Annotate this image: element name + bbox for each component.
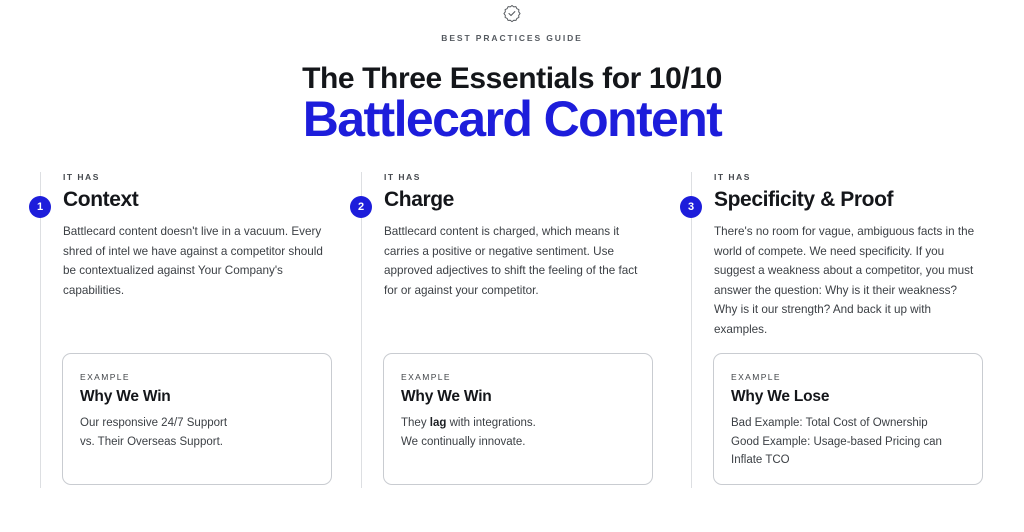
- example-card-label: EXAMPLE: [731, 372, 965, 382]
- column-description: Battlecard content doesn't live in a vac…: [63, 222, 325, 300]
- step-number-badge: 2: [350, 196, 372, 218]
- example-card: EXAMPLE Why We Win Our responsive 24/7 S…: [62, 353, 332, 485]
- essential-column-context: 1 IT HAS Context Battlecard content does…: [40, 172, 370, 492]
- example-line-1-post: with integrations.: [446, 417, 536, 429]
- example-card-heading: Why We Win: [80, 388, 314, 406]
- example-line-1-bold: lag: [430, 417, 447, 429]
- example-line-3: Inflate TCO: [731, 454, 790, 466]
- example-card-label: EXAMPLE: [80, 372, 314, 382]
- example-card-label: EXAMPLE: [401, 372, 635, 382]
- column-description: There's no room for vague, ambiguous fac…: [714, 222, 976, 339]
- column-divider-line: [691, 172, 692, 488]
- guide-kicker-block: BEST PRACTICES GUIDE: [0, 4, 1024, 44]
- example-line-1-pre: They: [401, 417, 430, 429]
- example-line-1-pre: Our responsive 24/7 Support: [80, 417, 227, 429]
- column-heading: Charge: [384, 188, 684, 212]
- column-divider-line: [40, 172, 41, 488]
- example-card-heading: Why We Win: [401, 388, 635, 406]
- column-heading: Specificity & Proof: [714, 188, 1014, 212]
- column-eyebrow-label: IT HAS: [714, 172, 1014, 182]
- example-card-body: Our responsive 24/7 Support vs. Their Ov…: [80, 414, 314, 451]
- column-eyebrow-label: IT HAS: [63, 172, 363, 182]
- guide-kicker-label: BEST PRACTICES GUIDE: [0, 32, 1024, 44]
- page-title-line-2: Battlecard Content: [0, 92, 1024, 147]
- column-heading: Context: [63, 188, 363, 212]
- essentials-columns: 1 IT HAS Context Battlecard content does…: [0, 172, 1024, 492]
- essential-column-specificity-proof: 3 IT HAS Specificity & Proof There's no …: [691, 172, 1021, 492]
- step-number-badge: 3: [680, 196, 702, 218]
- example-card-body: They lag with integrations. We continual…: [401, 414, 635, 451]
- example-line-2: Good Example: Usage-based Pricing can: [731, 436, 942, 448]
- verified-check-badge-icon: [501, 4, 523, 26]
- column-description: Battlecard content is charged, which mea…: [384, 222, 646, 300]
- example-card: EXAMPLE Why We Win They lag with integra…: [383, 353, 653, 485]
- column-eyebrow-label: IT HAS: [384, 172, 684, 182]
- example-line-2: We continually innovate.: [401, 436, 525, 448]
- example-card: EXAMPLE Why We Lose Bad Example: Total C…: [713, 353, 983, 485]
- step-number-badge: 1: [29, 196, 51, 218]
- example-card-heading: Why We Lose: [731, 388, 965, 406]
- example-line-1-pre: Bad Example: Total Cost of Ownership: [731, 417, 928, 429]
- column-divider-line: [361, 172, 362, 488]
- example-line-2: vs. Their Overseas Support.: [80, 436, 223, 448]
- essential-column-charge: 2 IT HAS Charge Battlecard content is ch…: [361, 172, 691, 492]
- example-card-body: Bad Example: Total Cost of Ownership Goo…: [731, 414, 965, 470]
